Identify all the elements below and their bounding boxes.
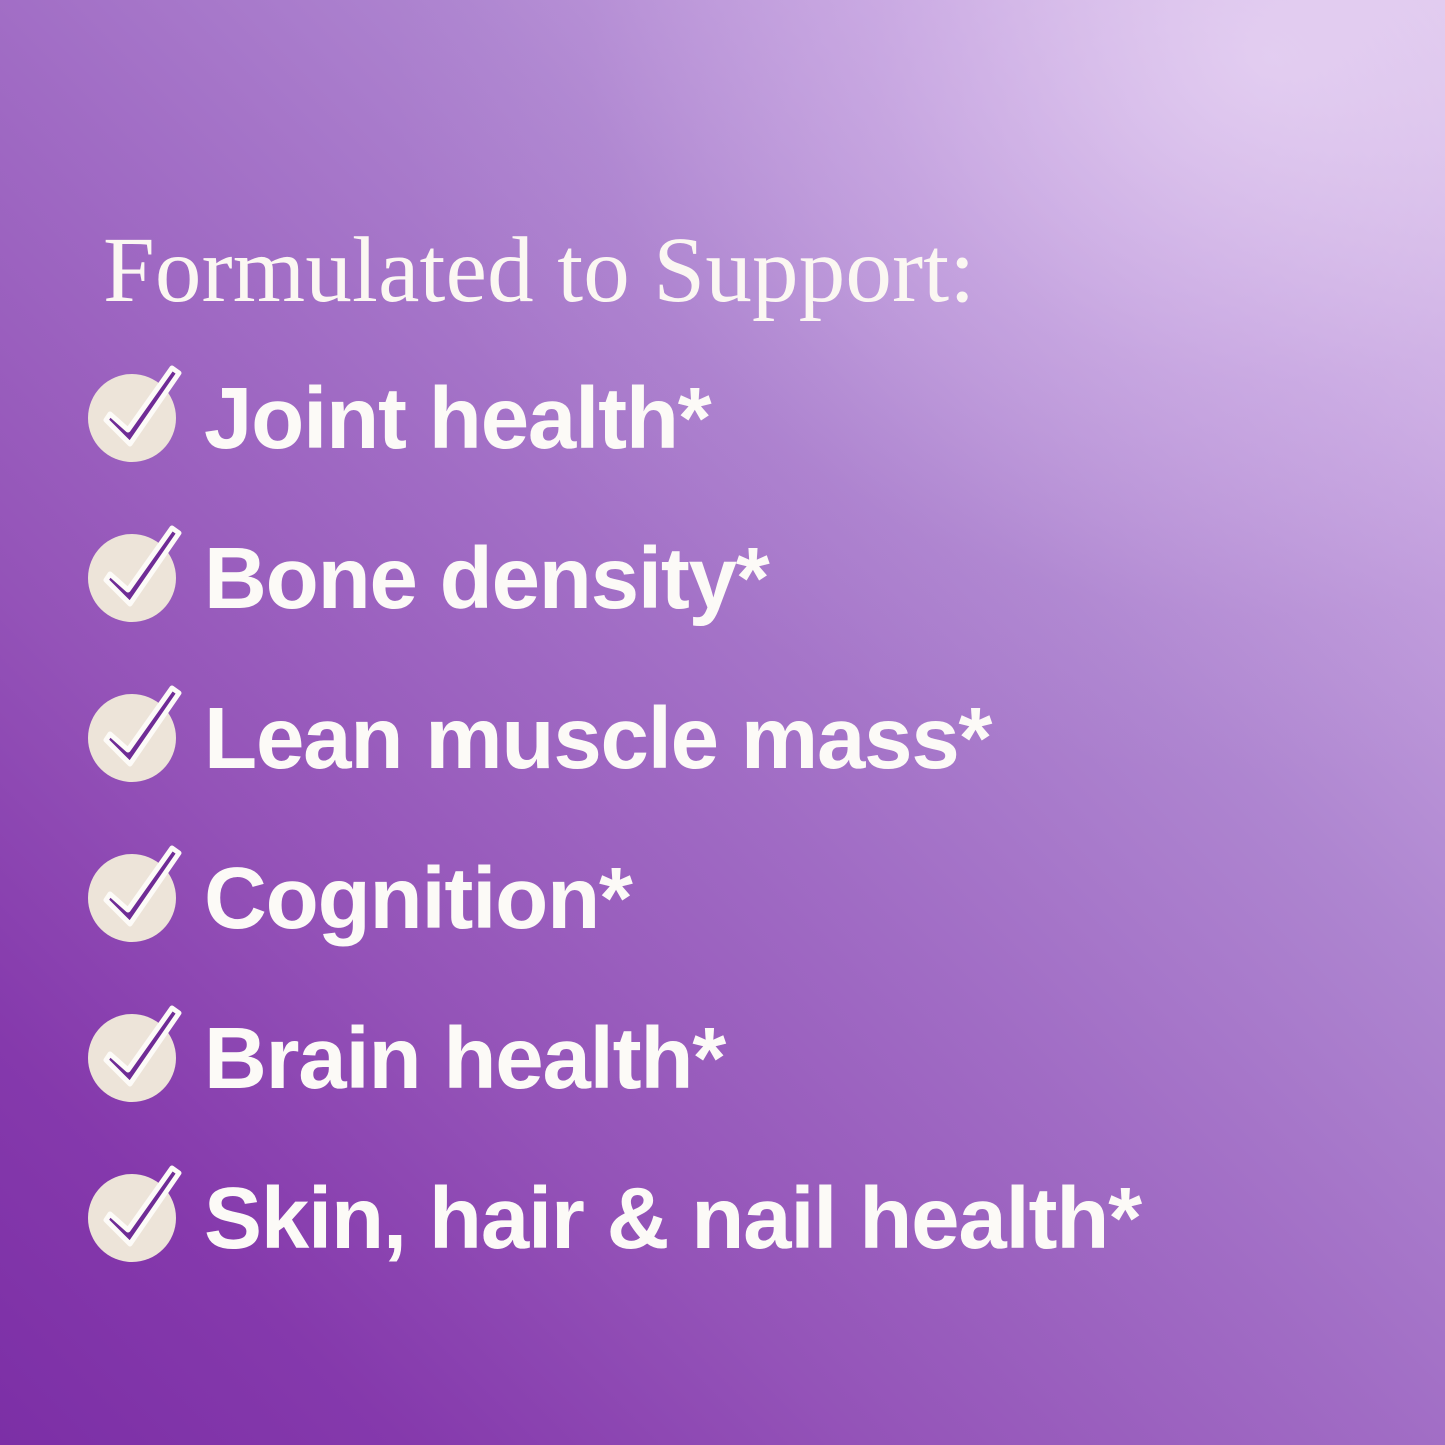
check-circle-icon (84, 364, 188, 468)
list-item: Brain health* (0, 976, 1445, 1136)
check-circle-icon (84, 844, 188, 948)
benefit-list: Joint health* Bone density* (0, 336, 1445, 1296)
benefit-label: Joint health* (204, 375, 710, 462)
check-circle-icon (84, 524, 188, 628)
list-item: Joint health* (0, 336, 1445, 496)
benefit-label: Brain health* (204, 1015, 725, 1102)
formulated-to-support-benefits-panel: Formulated to Support: Joint health* (0, 0, 1445, 1445)
list-item: Lean muscle mass* (0, 656, 1445, 816)
page-title: Formulated to Support: (103, 222, 975, 320)
check-circle-icon (84, 1164, 188, 1268)
check-circle-icon (84, 1004, 188, 1108)
benefit-label: Cognition* (204, 855, 632, 942)
benefit-label: Skin, hair & nail health* (204, 1175, 1141, 1262)
check-circle-icon (84, 684, 188, 788)
benefit-label: Bone density* (204, 535, 769, 622)
benefit-label: Lean muscle mass* (204, 695, 991, 782)
list-item: Skin, hair & nail health* (0, 1136, 1445, 1296)
list-item: Bone density* (0, 496, 1445, 656)
list-item: Cognition* (0, 816, 1445, 976)
